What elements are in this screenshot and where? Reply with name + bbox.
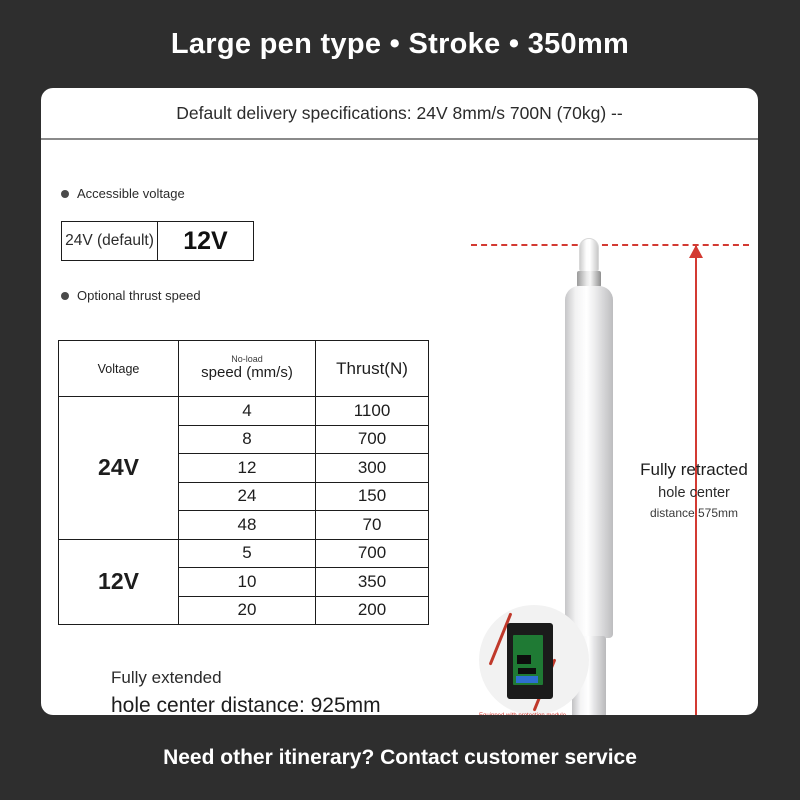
cell-speed: 4: [179, 397, 316, 426]
module-chip: [518, 668, 536, 674]
cell-voltage-group: 24V: [59, 397, 179, 540]
cell-speed: 8: [179, 425, 316, 454]
bullet-dot-icon: [61, 292, 69, 300]
cell-thrust: 700: [316, 425, 429, 454]
fully-extended-line2: hole center distance: 925mm: [111, 694, 381, 715]
header-voltage: Voltage: [59, 341, 179, 397]
table-body: 24V4110087001230024150487012V57001035020…: [59, 397, 429, 625]
header-speed-noload: No-load: [179, 355, 315, 365]
cell-thrust: 70: [316, 511, 429, 540]
cell-speed: 20: [179, 596, 316, 625]
fully-retracted-line3: distance 575mm: [629, 506, 758, 520]
fully-retracted-line2: hole center: [629, 485, 758, 501]
cell-thrust: 150: [316, 482, 429, 511]
cell-speed: 5: [179, 539, 316, 568]
module-chip: [517, 655, 531, 664]
bullet-dot-icon: [61, 190, 69, 198]
actuator-collar: [577, 271, 601, 287]
voltage-option-default[interactable]: 24V (default): [62, 222, 158, 260]
actuator-body: [565, 286, 613, 638]
module-housing: [507, 623, 553, 699]
table-row: 24V41100: [59, 397, 429, 426]
cell-thrust: 300: [316, 454, 429, 483]
header-speed-main: speed (mm/s): [179, 364, 315, 382]
product-photo-pane: Equipped with protection module Fully re…: [461, 140, 758, 715]
spec-card: Default delivery specifications: 24V 8mm…: [41, 88, 758, 715]
optional-thrust-heading: Optional thrust speed: [61, 288, 201, 303]
page-title: Large pen type • Stroke • 350mm: [0, 0, 800, 88]
module-terminal: [516, 676, 538, 683]
card-header-text: Default delivery specifications: 24V 8mm…: [41, 88, 758, 138]
cell-speed: 24: [179, 482, 316, 511]
cell-thrust: 700: [316, 539, 429, 568]
table-row: 12V5700: [59, 539, 429, 568]
fully-extended-caption: Fully extended hole center distance: 925…: [111, 668, 381, 715]
cell-thrust: 200: [316, 596, 429, 625]
fully-retracted-caption: Fully retracted hole center distance 575…: [629, 460, 758, 520]
accessible-voltage-heading: Accessible voltage: [61, 186, 185, 201]
cell-voltage-group: 12V: [59, 539, 179, 625]
cell-thrust: 350: [316, 568, 429, 597]
voltage-option-alternate[interactable]: 12V: [158, 222, 253, 260]
left-spec-pane: Accessible voltage 24V (default) 12V Opt…: [41, 140, 461, 715]
fully-retracted-line1: Fully retracted: [629, 460, 758, 480]
optional-thrust-label: Optional thrust speed: [77, 288, 201, 303]
cell-speed: 12: [179, 454, 316, 483]
cell-thrust: 1100: [316, 397, 429, 426]
table-header-row: Voltage No-load speed (mm/s) Thrust(N): [59, 341, 429, 397]
cell-speed: 10: [179, 568, 316, 597]
protection-module-inset: [479, 605, 589, 715]
cell-speed: 48: [179, 511, 316, 540]
thrust-speed-table: Voltage No-load speed (mm/s) Thrust(N) 2…: [58, 340, 429, 625]
actuator-rod-tip: [579, 238, 599, 272]
header-speed: No-load speed (mm/s): [179, 341, 316, 397]
footer-cta: Need other itinerary? Contact customer s…: [0, 715, 800, 800]
module-pcb: [513, 635, 543, 685]
accessible-voltage-label: Accessible voltage: [77, 186, 185, 201]
voltage-selector[interactable]: 24V (default) 12V: [61, 221, 254, 261]
fully-extended-line1: Fully extended: [111, 668, 381, 688]
header-thrust: Thrust(N): [316, 341, 429, 397]
